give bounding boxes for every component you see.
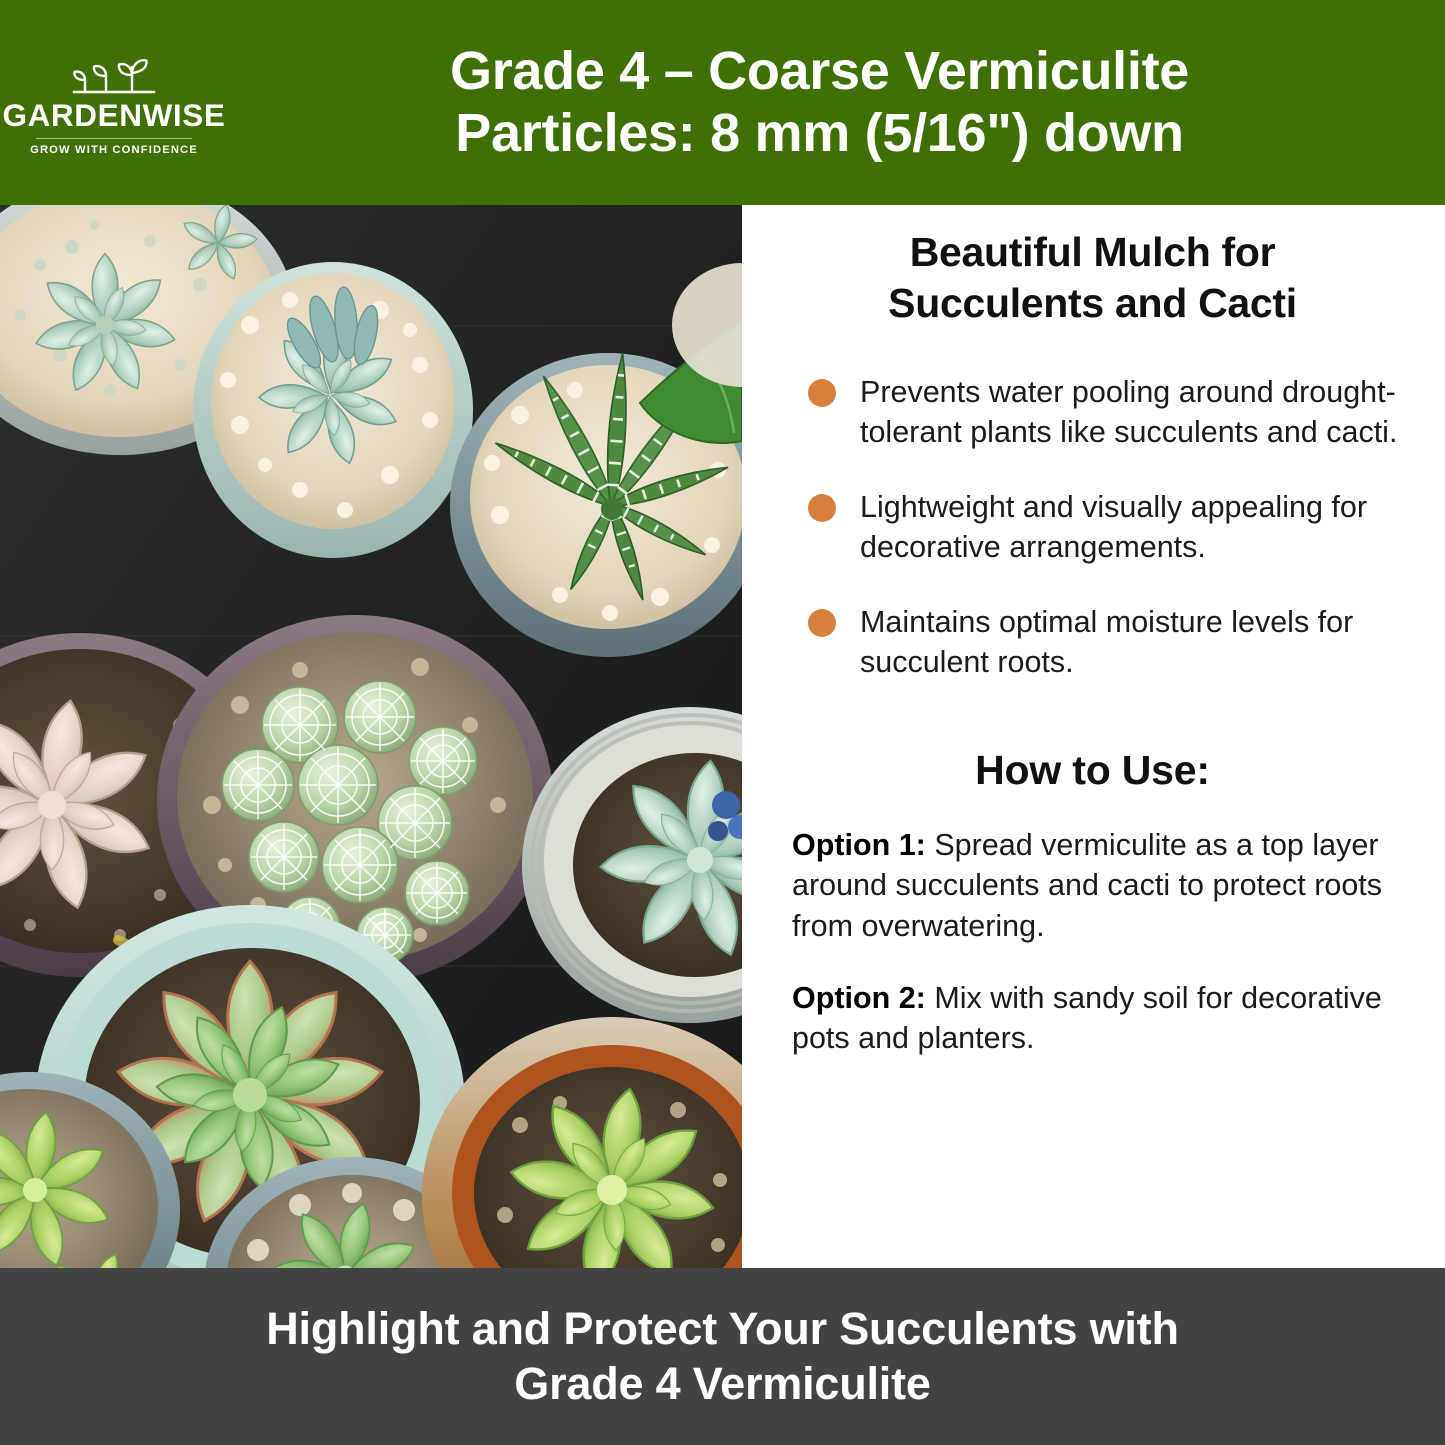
list-item: Maintains optimal moisture levels for su…	[808, 602, 1415, 683]
info-heading-line-1: Beautiful Mulch for	[910, 229, 1276, 275]
option-1-paragraph: Option 1: Spread vermiculite as a top la…	[792, 825, 1407, 948]
brand-logo: GARDENWISE GROW WITH CONFIDENCE	[0, 49, 228, 157]
benefit-text: Prevents water pooling around drought-to…	[860, 372, 1415, 453]
how-to-use-title: How to Use:	[770, 747, 1415, 794]
page-title-line-1: Grade 4 – Coarse Vermiculite	[450, 41, 1189, 101]
brand-tagline: GROW WITH CONFIDENCE	[30, 145, 198, 156]
footer-line-1: Highlight and Protect Your Succulents wi…	[266, 1303, 1179, 1354]
benefits-list: Prevents water pooling around drought-to…	[770, 372, 1415, 683]
page-title: Grade 4 – Coarse Vermiculite Particles: …	[228, 41, 1445, 164]
header-banner: GARDENWISE GROW WITH CONFIDENCE Grade 4 …	[0, 0, 1445, 205]
footer-line-2: Grade 4 Vermiculite	[266, 1357, 1179, 1412]
product-photo	[0, 205, 742, 1268]
logo-divider	[36, 138, 192, 139]
info-heading-line-2: Succulents and Cacti	[770, 278, 1415, 329]
option-1-label: Option 1:	[792, 828, 926, 862]
info-panel: Beautiful Mulch for Succulents and Cacti…	[742, 205, 1445, 1268]
benefit-text: Lightweight and visually appealing for d…	[860, 487, 1415, 568]
footer-tagline: Highlight and Protect Your Succulents wi…	[266, 1302, 1179, 1412]
benefit-text: Maintains optimal moisture levels for su…	[860, 602, 1415, 683]
bullet-dot-icon	[808, 379, 836, 407]
list-item: Prevents water pooling around drought-to…	[808, 372, 1415, 453]
option-2-label: Option 2:	[792, 981, 926, 1015]
sprout-seedlings-icon	[68, 53, 160, 97]
list-item: Lightweight and visually appealing for d…	[808, 487, 1415, 568]
bullet-dot-icon	[808, 609, 836, 637]
bullet-dot-icon	[808, 494, 836, 522]
page-title-line-2: Particles: 8 mm (5/16") down	[228, 103, 1411, 165]
footer-banner: Highlight and Protect Your Succulents wi…	[0, 1268, 1445, 1445]
content-area: Beautiful Mulch for Succulents and Cacti…	[0, 205, 1445, 1268]
option-2-paragraph: Option 2: Mix with sandy soil for decora…	[792, 978, 1407, 1060]
infographic-page: GARDENWISE GROW WITH CONFIDENCE Grade 4 …	[0, 0, 1445, 1445]
brand-wordmark: GARDENWISE	[2, 100, 225, 132]
info-heading: Beautiful Mulch for Succulents and Cacti	[770, 227, 1415, 329]
how-to-use-list: Option 1: Spread vermiculite as a top la…	[770, 825, 1415, 1060]
